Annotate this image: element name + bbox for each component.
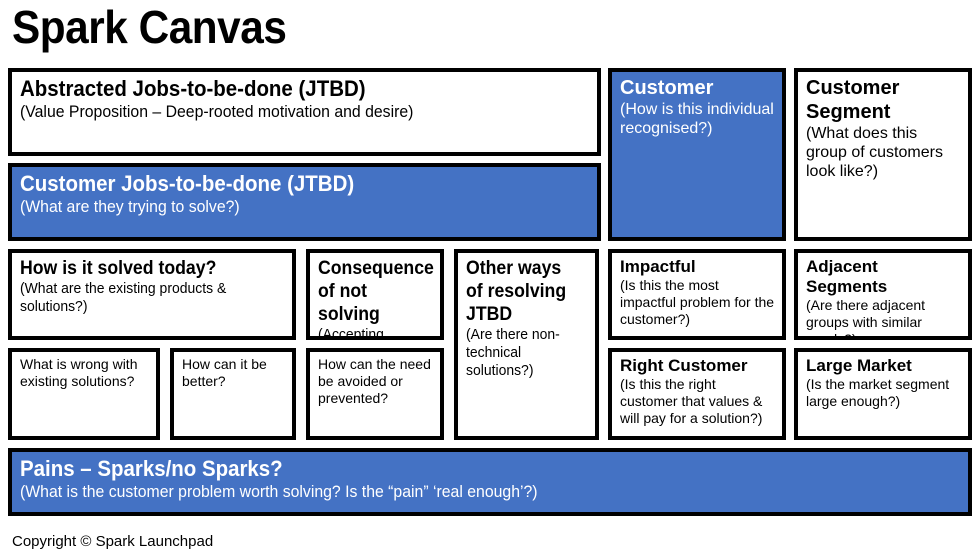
cell-how-need-avoided[interactable]: How can the need be avoided or prevented… — [306, 348, 444, 440]
cell-customer-heading: Customer — [620, 76, 775, 100]
cell-abstracted-jtbd-heading: Abstracted Jobs-to-be-done (JTBD) — [20, 76, 550, 102]
cell-abstracted-jtbd-subtext: (Value Proposition – Deep-rooted motivat… — [20, 102, 550, 122]
cell-consequence-not-solving-subtext: (Accepting circumstances) — [318, 326, 425, 340]
cell-how-can-it-be-better-content: How can it be better? — [174, 352, 292, 394]
cell-whats-wrong-existing-content: What is wrong with existing solutions? — [12, 352, 156, 394]
cell-other-ways-resolving-jtbd-subtext: (Are there non-technical solutions?) — [466, 326, 579, 380]
cell-adjacent-segments[interactable]: Adjacent Segments (Are there adjacent gr… — [794, 249, 972, 340]
cell-how-solved-today[interactable]: How is it solved today? (What are the ex… — [8, 249, 296, 340]
cell-large-market-heading: Large Market — [806, 356, 961, 376]
cell-customer-subtext: (How is this individual recognised?) — [620, 100, 775, 138]
cell-customer[interactable]: Customer (How is this individual recogni… — [608, 68, 786, 241]
cell-consequence-not-solving[interactable]: Consequence of not solving (Accepting ci… — [306, 249, 444, 340]
cell-abstracted-jtbd-content: Abstracted Jobs-to-be-done (JTBD) (Value… — [12, 72, 597, 126]
cell-pains[interactable]: Pains – Sparks/no Sparks? (What is the c… — [8, 448, 972, 516]
cell-abstracted-jtbd[interactable]: Abstracted Jobs-to-be-done (JTBD) (Value… — [8, 68, 601, 156]
cell-whats-wrong-existing[interactable]: What is wrong with existing solutions? — [8, 348, 160, 440]
cell-large-market-subtext: (Is the market segment large enough?) — [806, 376, 961, 410]
cell-right-customer-content: Right Customer (Is this the right custom… — [612, 352, 782, 431]
cell-other-ways-resolving-jtbd-content: Other ways of resolving JTBD (Are there … — [458, 253, 595, 384]
cell-customer-segment-content: Customer Segment (What does this group o… — [798, 72, 968, 185]
cell-adjacent-segments-content: Adjacent Segments (Are there adjacent gr… — [798, 253, 968, 340]
cell-how-solved-today-content: How is it solved today? (What are the ex… — [12, 253, 292, 320]
cell-right-customer-subtext: (Is this the right customer that values … — [620, 376, 775, 427]
cell-adjacent-segments-heading: Adjacent Segments — [806, 257, 961, 297]
cell-customer-content: Customer (How is this individual recogni… — [612, 72, 782, 142]
cell-pains-subtext: (What is the customer problem worth solv… — [20, 482, 895, 502]
cell-adjacent-segments-subtext: (Are there adjacent groups with similar … — [806, 297, 961, 340]
cell-pains-content: Pains – Sparks/no Sparks? (What is the c… — [12, 452, 968, 506]
cell-consequence-not-solving-content: Consequence of not solving (Accepting ci… — [310, 253, 440, 340]
cell-right-customer-heading: Right Customer — [620, 356, 775, 376]
cell-how-can-it-be-better-subtext: How can it be better? — [182, 356, 285, 390]
cell-how-need-avoided-content: How can the need be avoided or prevented… — [310, 352, 440, 411]
cell-customer-jtbd[interactable]: Customer Jobs-to-be-done (JTBD) (What ar… — [8, 163, 601, 241]
page-title: Spark Canvas — [12, 0, 286, 56]
cell-customer-segment[interactable]: Customer Segment (What does this group o… — [794, 68, 972, 241]
cell-impactful-content: Impactful (Is this the most impactful pr… — [612, 253, 782, 332]
cell-impactful-subtext: (Is this the most impactful problem for … — [620, 277, 775, 328]
cell-customer-jtbd-subtext: (What are they trying to solve?) — [20, 197, 550, 217]
cell-customer-segment-heading: Customer Segment — [806, 76, 961, 124]
cell-whats-wrong-existing-subtext: What is wrong with existing solutions? — [20, 356, 149, 390]
cell-customer-segment-subtext: (What does this group of customers look … — [806, 124, 961, 181]
cell-customer-jtbd-heading: Customer Jobs-to-be-done (JTBD) — [20, 171, 550, 197]
cell-large-market[interactable]: Large Market (Is the market segment larg… — [794, 348, 972, 440]
cell-right-customer[interactable]: Right Customer (Is this the right custom… — [608, 348, 786, 440]
cell-other-ways-resolving-jtbd[interactable]: Other ways of resolving JTBD (Are there … — [454, 249, 599, 440]
cell-how-solved-today-subtext: (What are the existing products & soluti… — [20, 280, 266, 316]
cell-pains-heading: Pains – Sparks/no Sparks? — [20, 456, 895, 482]
cell-impactful[interactable]: Impactful (Is this the most impactful pr… — [608, 249, 786, 340]
cell-how-can-it-be-better[interactable]: How can it be better? — [170, 348, 296, 440]
cell-how-need-avoided-subtext: How can the need be avoided or prevented… — [318, 356, 433, 407]
cell-consequence-not-solving-heading: Consequence of not solving — [318, 257, 425, 326]
cell-how-solved-today-heading: How is it solved today? — [20, 257, 266, 280]
copyright-footer: Copyright © Spark Launchpad — [12, 533, 213, 551]
cell-large-market-content: Large Market (Is the market segment larg… — [798, 352, 968, 414]
cell-impactful-heading: Impactful — [620, 257, 775, 277]
cell-customer-jtbd-content: Customer Jobs-to-be-done (JTBD) (What ar… — [12, 167, 597, 221]
cell-other-ways-resolving-jtbd-heading: Other ways of resolving JTBD — [466, 257, 579, 326]
